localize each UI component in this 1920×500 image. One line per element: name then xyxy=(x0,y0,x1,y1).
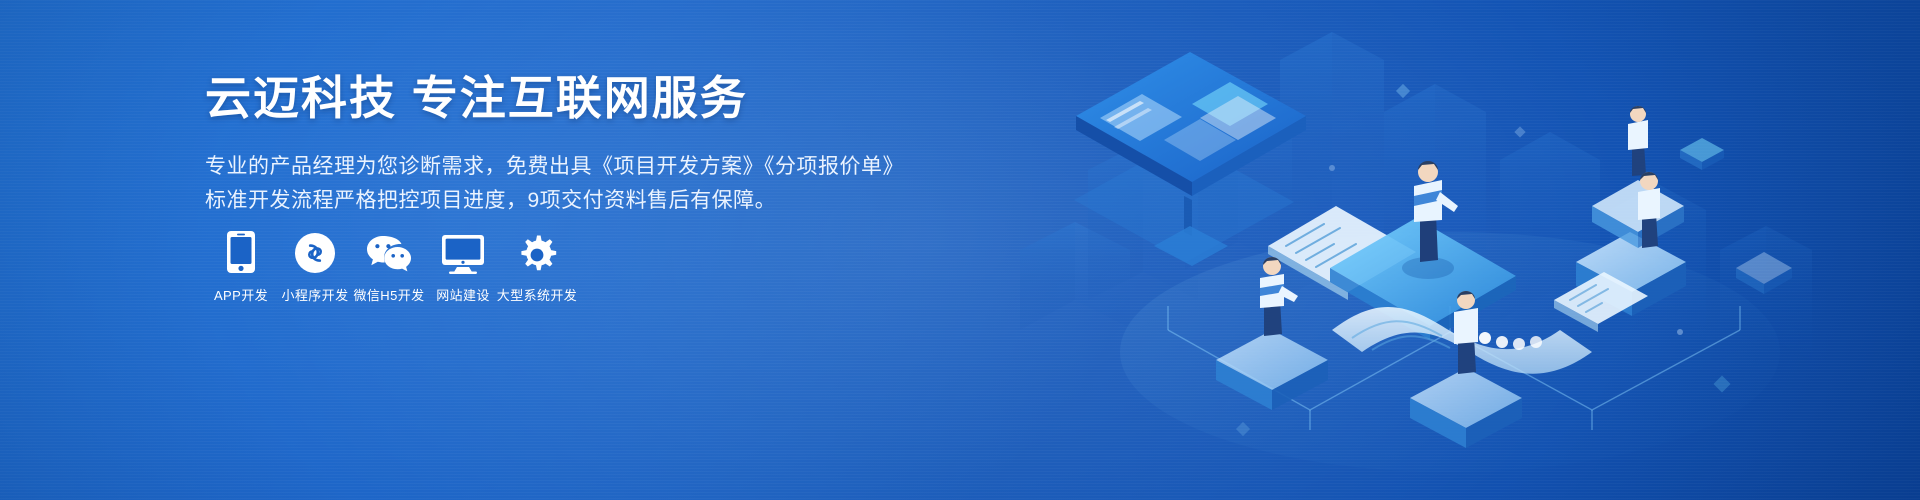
service-label: 微信H5开发 xyxy=(353,288,424,304)
gear-icon xyxy=(516,228,558,274)
subtitle-line-2: 标准开发流程严格把控项目进度，9项交付资料售后有保障。 xyxy=(205,184,965,218)
mini-program-icon xyxy=(294,228,336,274)
subtitle-line-1: 专业的产品经理为您诊断需求，免费出具《项目开发方案》《分项报价单》 xyxy=(205,150,965,184)
isometric-illustration xyxy=(980,0,1920,500)
banner-copy: 云迈科技 专注互联网服务 专业的产品经理为您诊断需求，免费出具《项目开发方案》《… xyxy=(205,68,965,218)
service-label: 小程序开发 xyxy=(281,288,348,304)
person-right-upper xyxy=(1628,106,1648,176)
service-label: 大型系统开发 xyxy=(497,288,577,304)
service-label: 网站建设 xyxy=(436,288,490,304)
service-item-app[interactable]: APP开发 xyxy=(205,228,277,304)
service-label: APP开发 xyxy=(214,288,268,304)
banner-title: 云迈科技 专注互联网服务 xyxy=(205,68,965,128)
hero-banner: 云迈科技 专注互联网服务 专业的产品经理为您诊断需求，免费出具《项目开发方案》《… xyxy=(0,0,1920,500)
service-item-large-system[interactable]: 大型系统开发 xyxy=(501,228,573,304)
service-item-website[interactable]: 网站建设 xyxy=(427,228,499,304)
monitor-icon xyxy=(441,228,485,274)
mobile-phone-icon xyxy=(226,228,256,274)
service-list: APP开发 小程序开发 xyxy=(205,228,573,304)
wechat-icon xyxy=(365,228,413,274)
illustration-container xyxy=(980,0,1920,500)
service-item-wechat-h5[interactable]: 微信H5开发 xyxy=(353,228,425,304)
service-item-miniprogram[interactable]: 小程序开发 xyxy=(279,228,351,304)
banner-subtitle: 专业的产品经理为您诊断需求，免费出具《项目开发方案》《分项报价单》 标准开发流程… xyxy=(205,150,965,218)
